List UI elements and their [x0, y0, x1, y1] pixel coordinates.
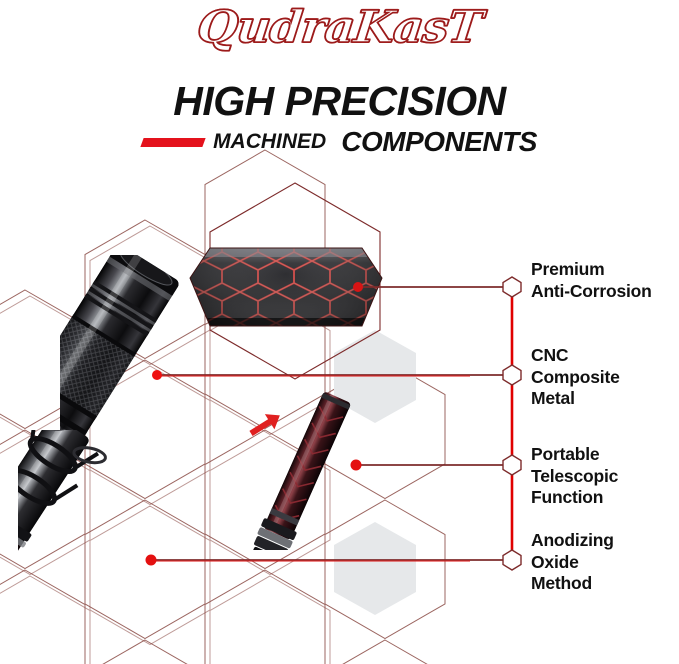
marker-hexagon-cnc — [503, 365, 521, 385]
subheadline-machined: MACHINED — [213, 130, 326, 154]
callout-label-portable: Portable Telescopic Function — [531, 444, 618, 509]
subheadline-row: MACHINED COMPONENTS — [0, 126, 679, 158]
callout-label-cnc: CNC Composite Metal — [531, 345, 620, 410]
marker-hexagon-premium — [503, 277, 521, 297]
red-dash-accent — [140, 138, 205, 147]
callout-label-anodizing: Anodizing Oxide Method — [531, 530, 614, 595]
infographic-canvas: QudraKasT HIGH PRECISION MACHINED COMPON… — [0, 0, 679, 664]
source-dot-cnc — [152, 370, 162, 380]
subheadline-components: COMPONENTS — [341, 126, 537, 158]
callout-label-premium: Premium Anti-Corrosion — [531, 259, 652, 302]
marker-hexagon-portable — [503, 455, 521, 475]
source-dot-anodizing — [146, 555, 157, 566]
headline-title: HIGH PRECISION — [0, 78, 679, 125]
marker-hexagon-anodizing — [503, 550, 521, 570]
brand-logo: QudraKasT — [0, 2, 679, 53]
source-dot-premium — [353, 282, 363, 292]
source-dot-portable — [351, 460, 362, 471]
